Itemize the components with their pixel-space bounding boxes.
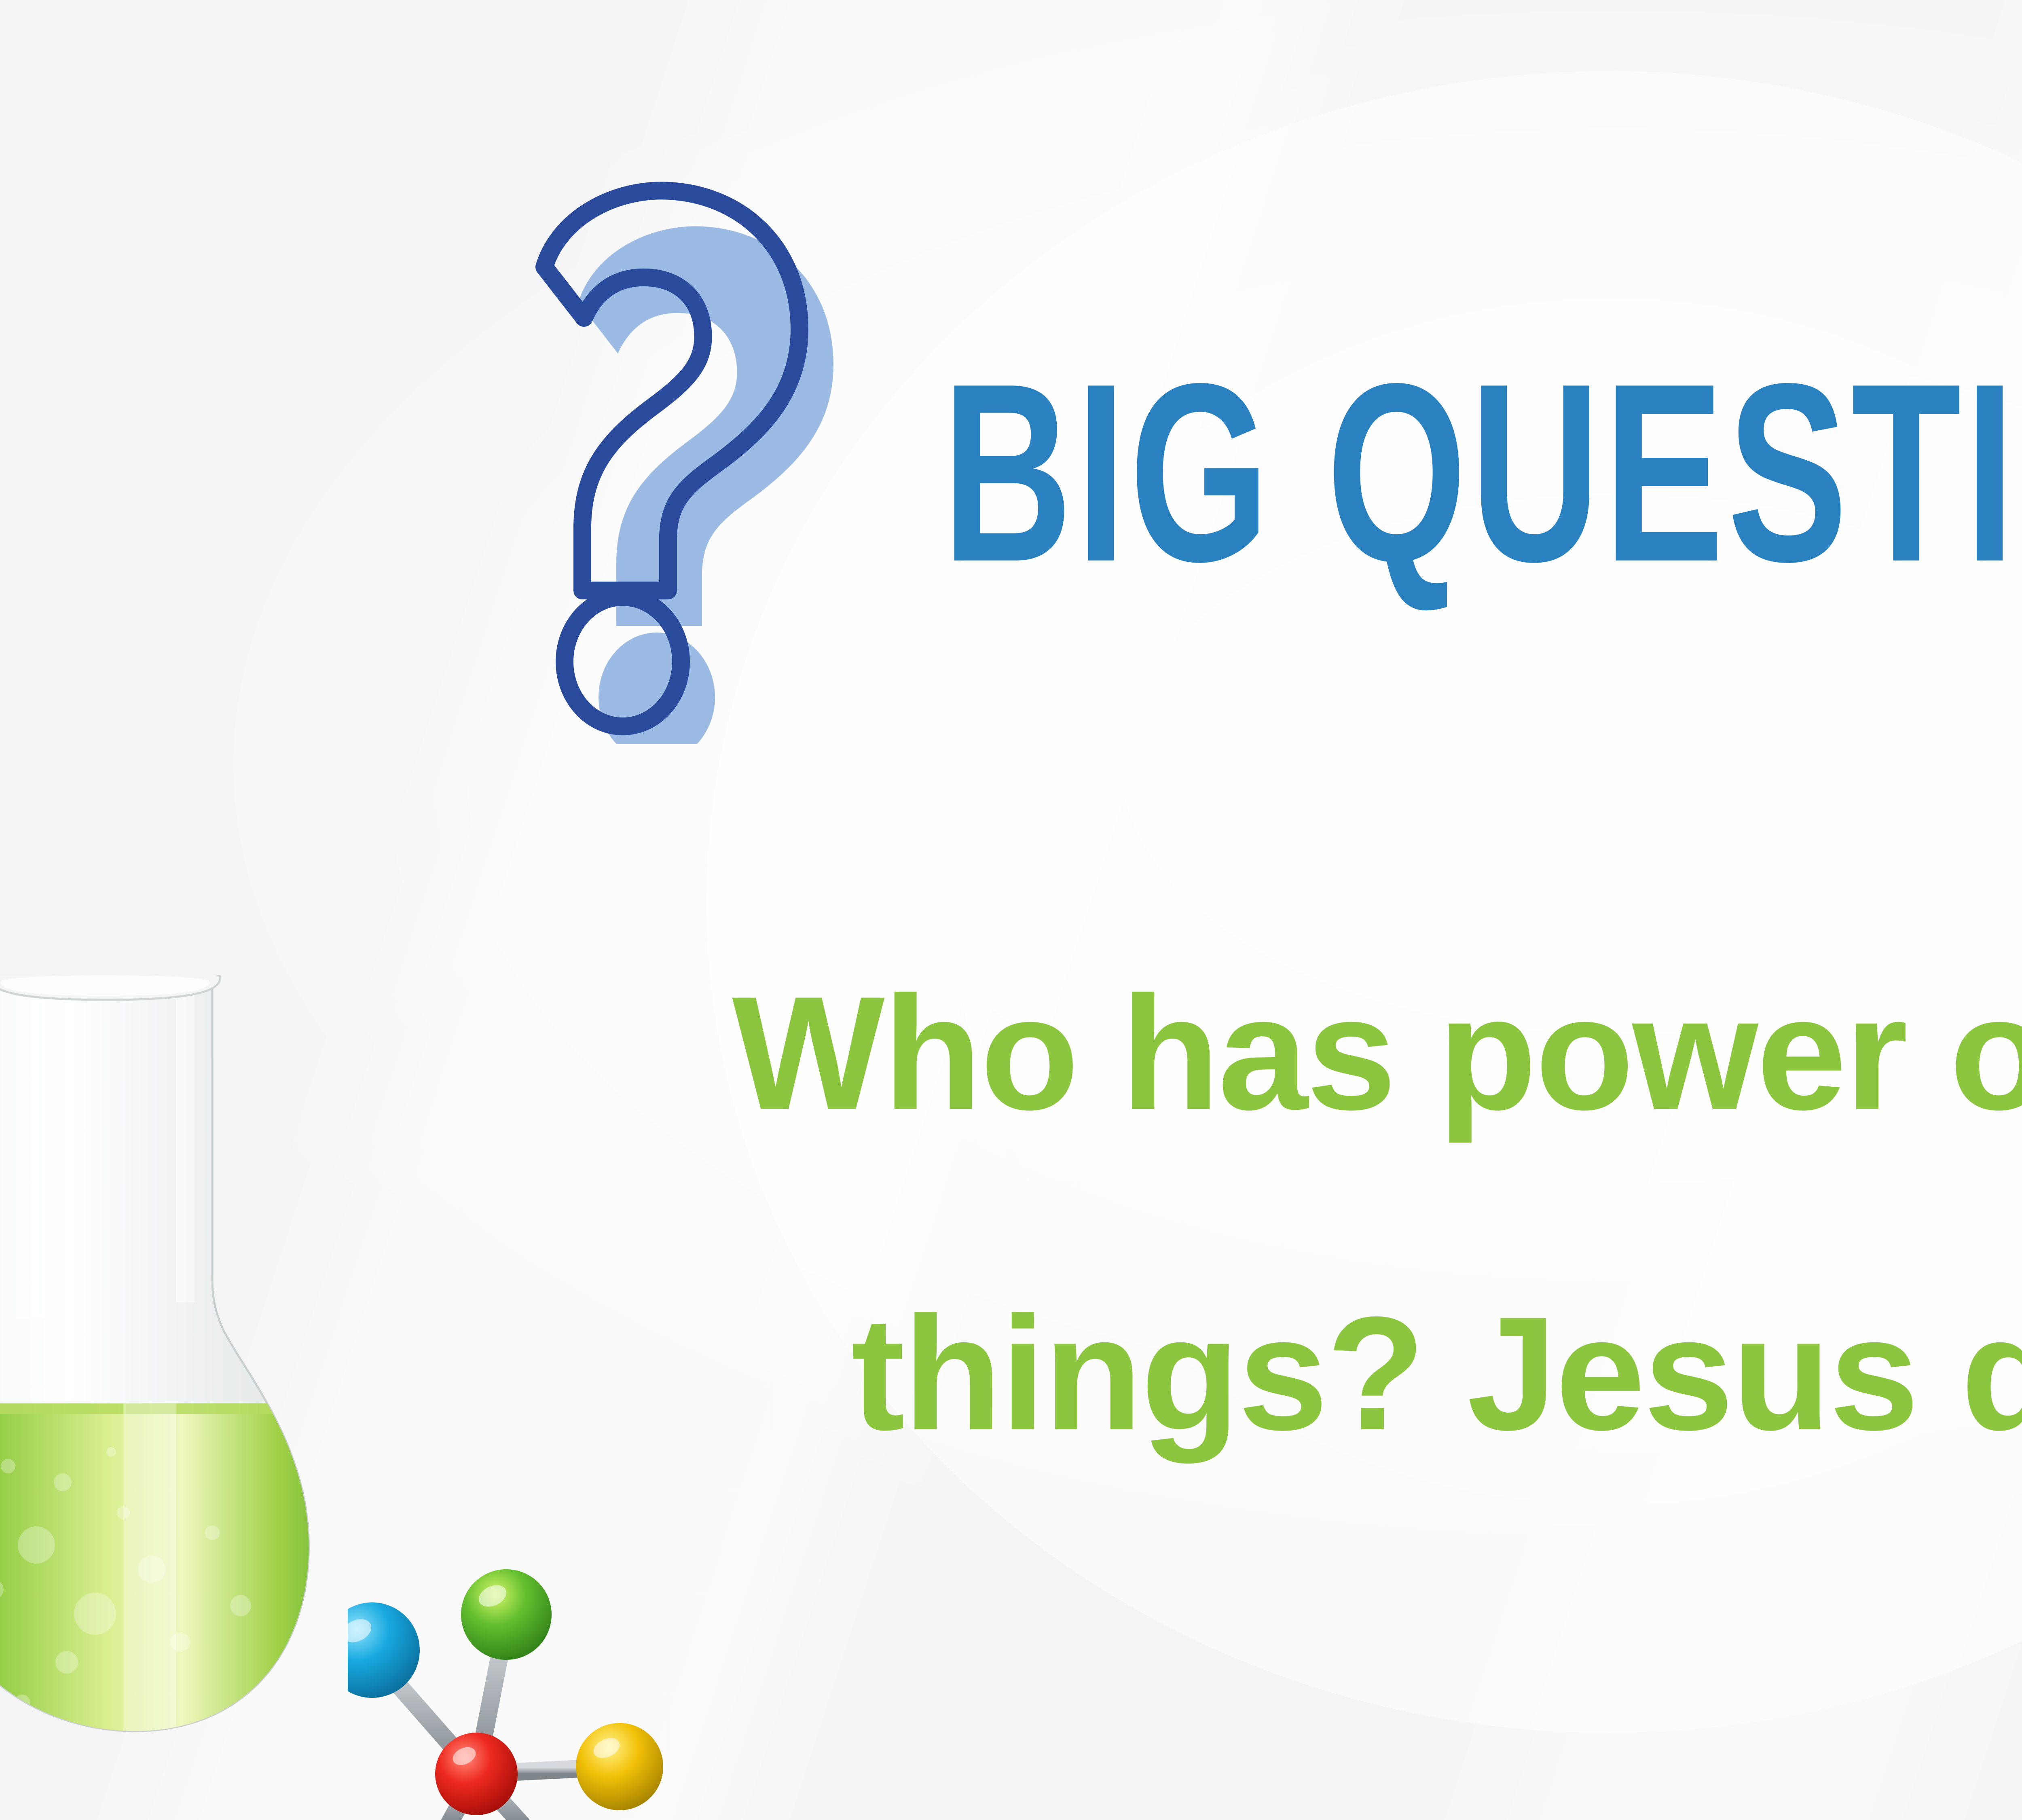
molecule-model [348, 1488, 728, 1820]
center-atom [435, 1733, 518, 1815]
green-atom [461, 1569, 552, 1660]
blue-atom [348, 1602, 420, 1698]
page-title: BIG QUESTION [942, 346, 2022, 662]
yellow-atom [576, 1723, 663, 1810]
question-mark-icon [461, 170, 914, 744]
slide-canvas: BIG QUESTION Who has power over all thin… [0, 0, 2022, 1820]
green-flask [0, 975, 350, 1820]
